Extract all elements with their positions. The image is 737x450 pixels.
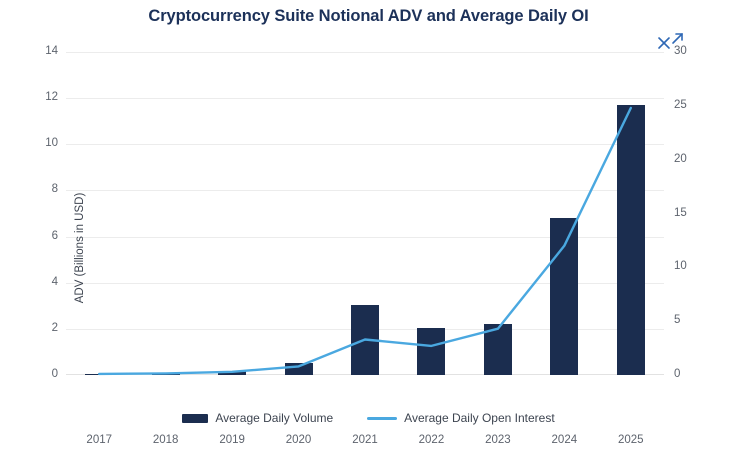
- x-tick-label: 2019: [199, 434, 265, 446]
- x-tick-label: 2025: [598, 434, 664, 446]
- y-tick-label: 0: [18, 368, 58, 380]
- y2-tick-label: 15: [674, 207, 714, 219]
- y2-tick-label: 10: [674, 260, 714, 272]
- open-interest-line[interactable]: [66, 52, 664, 375]
- y-tick-label: 4: [18, 276, 58, 288]
- y-tick-label: 6: [18, 230, 58, 242]
- x-tick-label: 2023: [465, 434, 531, 446]
- y-tick-label: 10: [18, 137, 58, 149]
- legend-swatch-bar-icon: [182, 414, 208, 423]
- x-tick-label: 2018: [133, 434, 199, 446]
- legend-swatch-line-icon: [367, 417, 397, 420]
- y2-tick-label: 0: [674, 368, 714, 380]
- x-tick-label: 2020: [266, 434, 332, 446]
- y2-tick-label: 5: [674, 314, 714, 326]
- chart-legend: Average Daily Volume Average Daily Open …: [0, 411, 737, 425]
- y2-tick-label: 20: [674, 153, 714, 165]
- legend-label: Average Daily Volume: [215, 411, 333, 425]
- y-tick-label: 12: [18, 91, 58, 103]
- legend-label: Average Daily Open Interest: [404, 411, 555, 425]
- plot-area: 14 12 10 8 6 4 2 0 30 25 20 15 10 5 0 20…: [66, 52, 664, 375]
- y-tick-label: 14: [18, 45, 58, 57]
- y2-tick-label: 30: [674, 45, 714, 57]
- legend-item-average-daily-volume[interactable]: Average Daily Volume: [182, 411, 333, 425]
- x-tick-label: 2024: [531, 434, 597, 446]
- y2-tick-label: 25: [674, 99, 714, 111]
- x-tick-label: 2017: [66, 434, 132, 446]
- y-tick-label: 2: [18, 322, 58, 334]
- x-tick-label: 2022: [398, 434, 464, 446]
- y-tick-label: 8: [18, 183, 58, 195]
- y-axis-title: ADV (Billions in USD): [74, 148, 86, 348]
- chart-container: Cryptocurrency Suite Notional ADV and Av…: [0, 0, 737, 450]
- x-tick-label: 2021: [332, 434, 398, 446]
- legend-item-average-daily-open-interest[interactable]: Average Daily Open Interest: [367, 411, 555, 425]
- chart-title: Cryptocurrency Suite Notional ADV and Av…: [0, 7, 737, 26]
